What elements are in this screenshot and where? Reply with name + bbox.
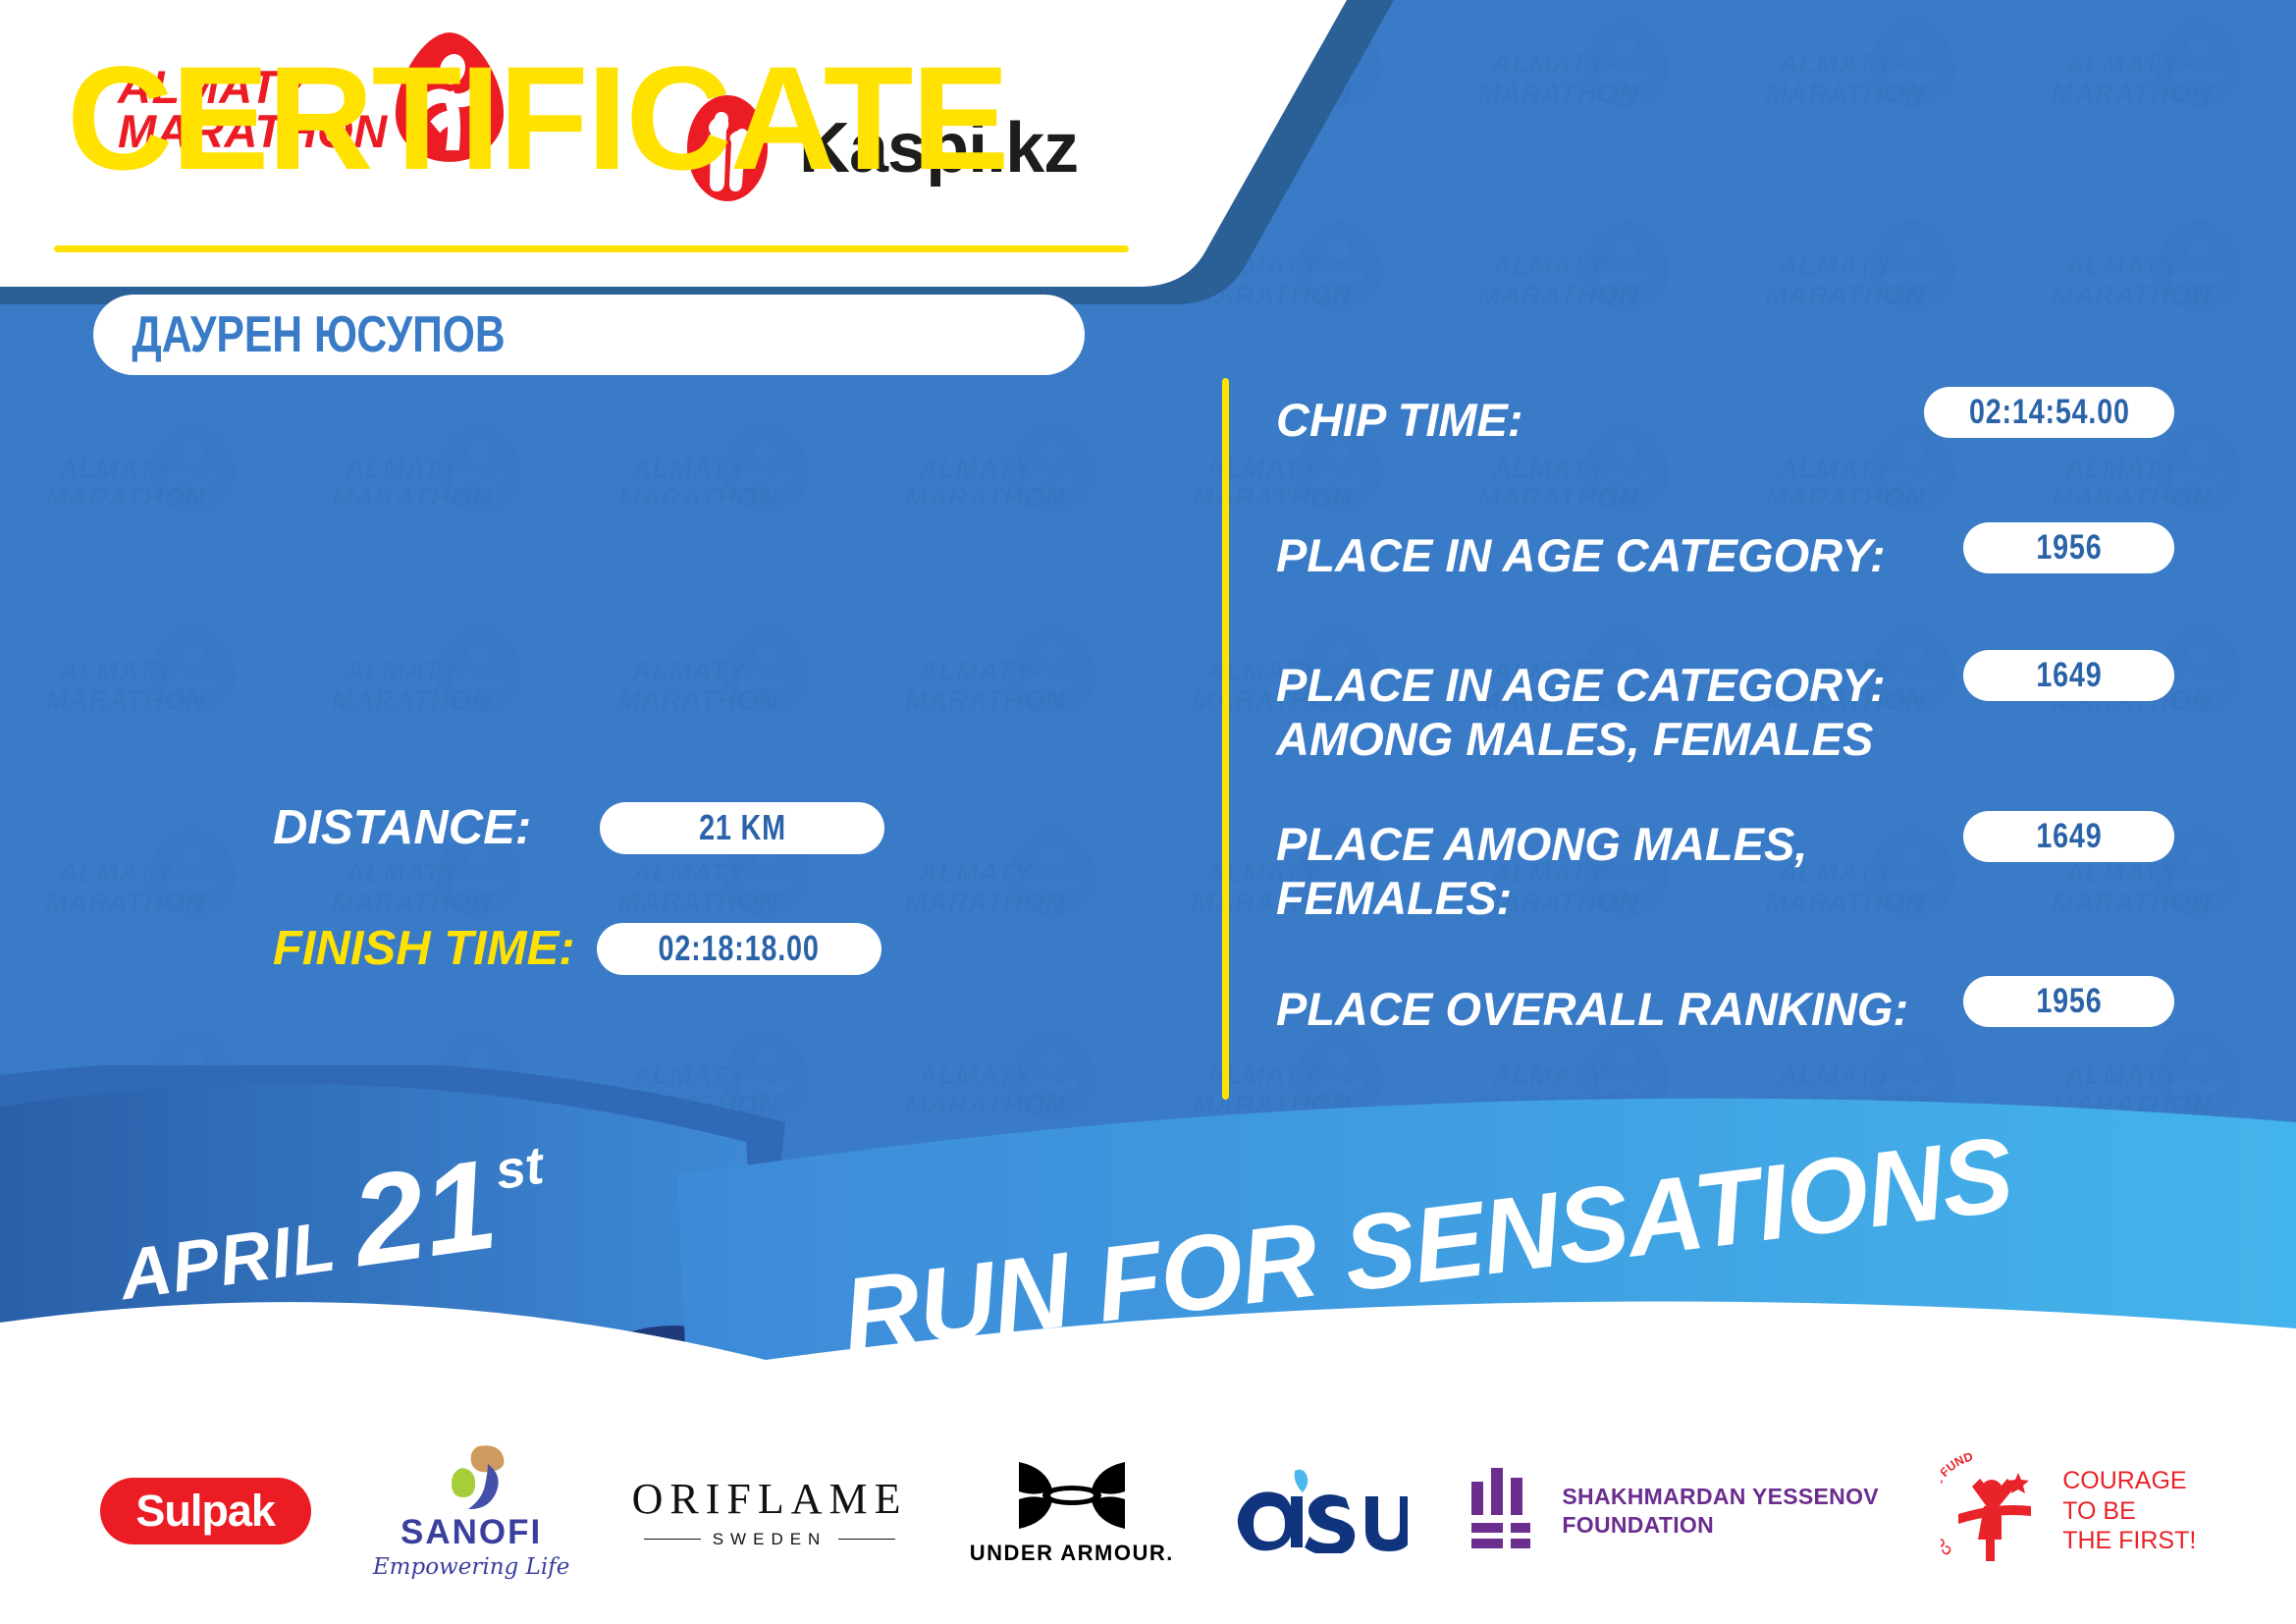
result-label: PLACE IN AGE CATEGORY: AMONG MALES, FEMA… xyxy=(1276,658,1886,767)
sponsor-logo-oriflame: ORIFLAME SWEDEN xyxy=(632,1474,908,1549)
yessenov-line1: SHAKHMARDAN YESSENOV xyxy=(1562,1483,1879,1511)
certificate-canvas: ALMATY MARATHON ALMATY MARATHON xyxy=(0,0,2296,1624)
courage-line1: COURAGE xyxy=(2062,1466,2196,1496)
distance-value-pill: 21 KM xyxy=(600,802,884,854)
result-value-pill-place-overall-ranking: 1956 xyxy=(1963,976,2174,1027)
sponsor-label-yessenov: SHAKHMARDAN YESSENOV FOUNDATION xyxy=(1562,1483,1879,1540)
result-value-pill-place-among-males-females: 1649 xyxy=(1963,811,2174,862)
finish-time-row: FINISH TIME: 02:18:18.00 xyxy=(273,921,881,976)
under-armour-mark-icon xyxy=(1013,1456,1131,1535)
result-label: PLACE OVERALL RANKING: xyxy=(1276,982,1908,1036)
result-value-pill-chip-time: 02:14:54.00 xyxy=(1924,387,2174,438)
yessenov-bars-icon xyxy=(1469,1466,1540,1556)
result-value-pill-place-age-category-among: 1649 xyxy=(1963,650,2174,701)
sponsor-logo-yessenov-foundation: SHAKHMARDAN YESSENOV FOUNDATION xyxy=(1469,1466,1879,1556)
event-day-suffix: st xyxy=(492,1135,547,1202)
sponsor-logo-asu xyxy=(1236,1469,1408,1553)
result-row-place-age-category-among: PLACE IN AGE CATEGORY: AMONG MALES, FEMA… xyxy=(1276,658,1886,767)
sanofi-mark-icon xyxy=(433,1442,509,1511)
sponsor-logo-sulpak: Sulpak xyxy=(100,1478,311,1544)
event-day: 21 xyxy=(346,1146,502,1279)
yessenov-line2: FOUNDATION xyxy=(1562,1511,1879,1540)
vertical-divider xyxy=(1222,378,1229,1100)
result-row-place-age-category: PLACE IN AGE CATEGORY: xyxy=(1276,528,1886,582)
result-label: CHIP TIME: xyxy=(1276,393,1523,447)
sponsor-sub-oriflame: SWEDEN xyxy=(644,1530,896,1549)
finish-time-value: 02:18:18.00 xyxy=(659,928,820,969)
distance-label: DISTANCE: xyxy=(273,800,531,855)
sponsor-logo-under-armour: UNDER ARMOUR. xyxy=(970,1456,1174,1566)
sponsor-label-sanofi: SANOFI xyxy=(400,1513,542,1552)
result-value-pill-place-age-category: 1956 xyxy=(1963,522,2174,573)
sponsor-label-courage: COURAGE TO BE THE FIRST! xyxy=(2062,1466,2196,1556)
sponsor-strip: Sulpak SANOFI Empowering Life ORIFLAME S… xyxy=(0,1398,2296,1624)
courage-line3: THE FIRST! xyxy=(2062,1526,2196,1556)
sponsor-sub-label-oriflame: SWEDEN xyxy=(713,1530,828,1549)
oriflame-rule-right xyxy=(838,1539,895,1541)
participant-name-value: ДАУРЕН ЮСУПОВ xyxy=(93,305,506,364)
result-row-place-overall-ranking: PLACE OVERALL RANKING: xyxy=(1276,982,1908,1036)
asu-mark-icon xyxy=(1236,1469,1408,1553)
participant-name-field: ДАУРЕН ЮСУПОВ xyxy=(93,295,1085,375)
svg-text:CORPORATE FUND: CORPORATE FUND xyxy=(1941,1453,1975,1558)
result-label: PLACE IN AGE CATEGORY: xyxy=(1276,528,1886,582)
result-value: 1649 xyxy=(2036,656,2102,695)
sponsor-logo-sanofi: SANOFI Empowering Life xyxy=(373,1442,569,1580)
courage-runner-icon: CORPORATE FUND xyxy=(1941,1453,2049,1569)
page-title: CERTIFICATE xyxy=(67,44,1008,191)
result-row-place-among-males-females: PLACE AMONG MALES, FEMALES: xyxy=(1276,817,1807,926)
finish-time-value-pill: 02:18:18.00 xyxy=(597,923,881,975)
finish-time-label: FINISH TIME: xyxy=(273,921,575,976)
result-value: 02:14:54.00 xyxy=(1969,393,2130,432)
result-row-chip-time: CHIP TIME: xyxy=(1276,393,1523,447)
sponsor-label-oriflame: ORIFLAME xyxy=(632,1474,908,1524)
sponsor-tagline-sanofi: Empowering Life xyxy=(373,1554,569,1580)
sponsor-label-under-armour: UNDER ARMOUR. xyxy=(970,1541,1174,1566)
result-value: 1956 xyxy=(2036,982,2102,1021)
result-value: 1649 xyxy=(2036,817,2102,856)
distance-value: 21 KM xyxy=(699,807,786,848)
result-label: PLACE AMONG MALES, FEMALES: xyxy=(1276,817,1807,926)
title-underline xyxy=(54,245,1129,252)
oriflame-rule-left xyxy=(644,1539,701,1541)
distance-row: DISTANCE: 21 KM xyxy=(273,800,884,855)
result-value: 1956 xyxy=(2036,528,2102,568)
sponsor-label-sulpak: Sulpak xyxy=(135,1486,275,1537)
courage-line2: TO BE xyxy=(2062,1496,2196,1527)
sponsor-logo-corporate-fund: CORPORATE FUND COURAGE TO BE THE FIRST! xyxy=(1941,1453,2196,1569)
